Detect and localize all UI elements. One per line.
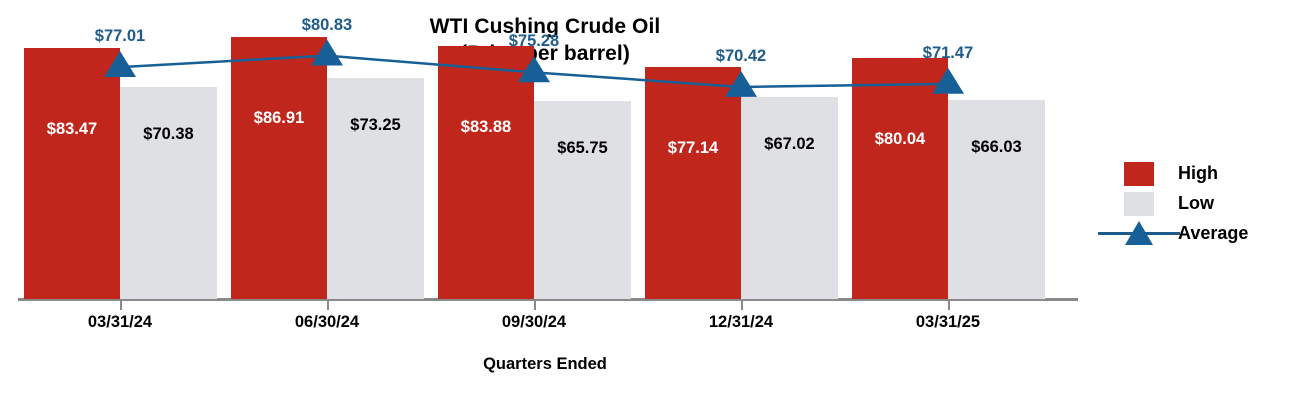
bar-high[interactable]: $83.47 (24, 48, 120, 299)
bar-low-value-label: $65.75 (534, 139, 631, 158)
x-axis-tick (741, 301, 743, 310)
legend-label-high: High (1178, 163, 1218, 184)
average-value-label: $70.42 (716, 47, 766, 66)
bar-low[interactable]: $65.75 (534, 101, 631, 299)
bar-high-value-label: $80.04 (852, 130, 948, 149)
legend-label-low: Low (1178, 193, 1214, 214)
bar-high[interactable]: $80.04 (852, 58, 948, 299)
bar-low-value-label: $66.03 (948, 138, 1045, 157)
chart-legend: High Low Average (1110, 158, 1290, 248)
legend-item-average[interactable]: Average (1110, 218, 1290, 248)
average-value-label: $75.28 (509, 32, 559, 51)
bar-high[interactable]: $83.88 (438, 46, 534, 299)
average-value-label: $77.01 (95, 27, 145, 46)
bar-high[interactable]: $86.91 (231, 37, 327, 299)
x-axis-category-label: 09/30/24 (502, 313, 566, 332)
x-axis-tick (534, 301, 536, 310)
bar-low[interactable]: $73.25 (327, 78, 424, 299)
bar-low-value-label: $67.02 (741, 135, 838, 154)
bar-high[interactable]: $77.14 (645, 67, 741, 299)
bar-low[interactable]: $66.03 (948, 100, 1045, 299)
x-axis-category-label: 06/30/24 (295, 313, 359, 332)
legend-label-average: Average (1178, 223, 1248, 244)
legend-item-high[interactable]: High (1110, 158, 1290, 188)
bar-high-value-label: $83.47 (24, 120, 120, 139)
x-axis-category-label: 03/31/24 (88, 313, 152, 332)
bar-high-value-label: $77.14 (645, 139, 741, 158)
bar-high-value-label: $83.88 (438, 118, 534, 137)
bar-low-value-label: $73.25 (327, 116, 424, 135)
legend-marker-average (1110, 218, 1178, 248)
bar-low[interactable]: $67.02 (741, 97, 838, 299)
x-axis-category-label: 12/31/24 (709, 313, 773, 332)
triangle-up-icon (1125, 221, 1153, 245)
bar-low[interactable]: $70.38 (120, 87, 217, 299)
x-axis-tick (120, 301, 122, 310)
bar-low-value-label: $70.38 (120, 125, 217, 144)
legend-item-low[interactable]: Low (1110, 188, 1290, 218)
chart-root: WTI Cushing Crude Oil (Price per barrel)… (0, 0, 1300, 400)
average-value-label: $71.47 (923, 44, 973, 63)
legend-swatch-low (1110, 188, 1178, 218)
plot-area: Quarters Ended $83.47$70.38$77.0103/31/2… (0, 0, 1090, 400)
x-axis-title: Quarters Ended (0, 355, 1090, 374)
x-axis-tick (327, 301, 329, 310)
x-axis-category-label: 03/31/25 (916, 313, 980, 332)
legend-swatch-high (1110, 158, 1178, 188)
x-axis-tick (948, 301, 950, 310)
average-value-label: $80.83 (302, 16, 352, 35)
bar-high-value-label: $86.91 (231, 109, 327, 128)
